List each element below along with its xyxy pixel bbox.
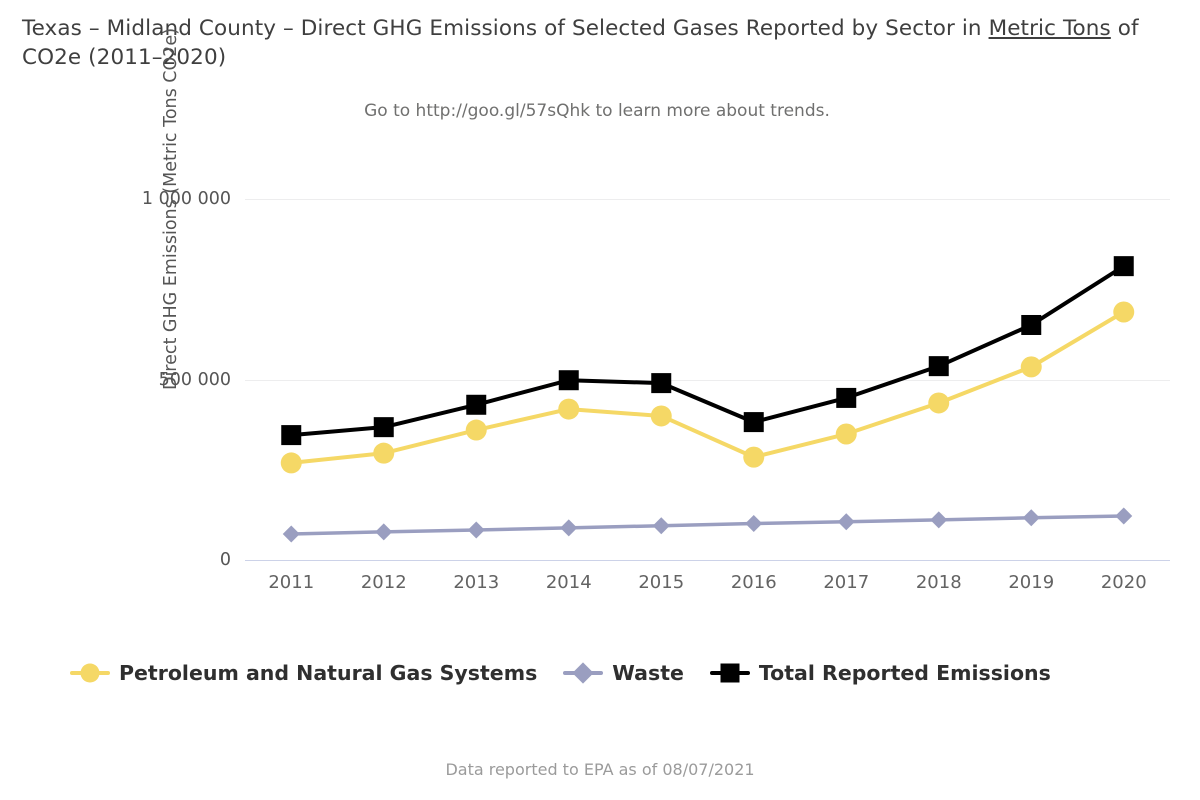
- legend-square-icon: [720, 664, 739, 683]
- series-line: [291, 516, 1124, 534]
- data-point-marker[interactable]: [375, 523, 392, 540]
- data-point-marker[interactable]: [1023, 509, 1040, 526]
- footer-note: Data reported to EPA as of 08/07/2021: [0, 760, 1200, 779]
- data-point-marker[interactable]: [374, 417, 394, 437]
- data-point-marker[interactable]: [1021, 356, 1042, 377]
- data-point-marker[interactable]: [468, 522, 485, 539]
- data-point-marker[interactable]: [466, 420, 487, 441]
- legend-item-total-reported-emissions[interactable]: Total Reported Emissions: [710, 662, 1051, 684]
- data-point-marker[interactable]: [281, 425, 301, 445]
- series-line: [291, 266, 1124, 435]
- legend-label: Waste: [612, 662, 684, 684]
- data-point-marker[interactable]: [1113, 301, 1134, 322]
- data-point-marker[interactable]: [281, 452, 302, 473]
- data-point-marker[interactable]: [651, 405, 672, 426]
- legend-circle-icon: [81, 664, 100, 683]
- data-point-marker[interactable]: [651, 373, 671, 393]
- data-point-marker[interactable]: [744, 412, 764, 432]
- circle-marker-icon: [70, 662, 110, 684]
- data-point-marker[interactable]: [838, 513, 855, 530]
- square-marker-icon: [710, 662, 750, 684]
- legend-label: Petroleum and Natural Gas Systems: [119, 662, 537, 684]
- data-point-marker[interactable]: [558, 399, 579, 420]
- legend-item-petroleum-and-natural-gas-systems[interactable]: Petroleum and Natural Gas Systems: [70, 662, 537, 684]
- legend-item-waste[interactable]: Waste: [563, 662, 684, 684]
- data-point-marker[interactable]: [929, 356, 949, 376]
- data-point-marker[interactable]: [283, 526, 300, 543]
- data-point-marker[interactable]: [928, 392, 949, 413]
- data-point-marker[interactable]: [560, 519, 577, 536]
- data-point-marker[interactable]: [466, 395, 486, 415]
- series-line: [291, 312, 1124, 463]
- series-total-reported-emissions: [281, 256, 1134, 445]
- data-point-marker[interactable]: [1021, 315, 1041, 335]
- legend-diamond-icon: [573, 662, 594, 683]
- data-point-marker[interactable]: [653, 517, 670, 534]
- data-point-marker[interactable]: [1115, 507, 1132, 524]
- chart-legend: Petroleum and Natural Gas SystemsWasteTo…: [70, 662, 1051, 684]
- data-point-marker[interactable]: [559, 370, 579, 390]
- data-point-marker[interactable]: [373, 443, 394, 464]
- diamond-marker-icon: [563, 662, 603, 684]
- series-petroleum-and-natural-gas-systems: [281, 301, 1135, 473]
- legend-label: Total Reported Emissions: [759, 662, 1051, 684]
- data-point-marker[interactable]: [745, 515, 762, 532]
- series-waste: [283, 507, 1133, 542]
- data-point-marker[interactable]: [836, 424, 857, 445]
- data-point-marker[interactable]: [1114, 256, 1134, 276]
- data-point-marker[interactable]: [930, 511, 947, 528]
- data-point-marker[interactable]: [743, 447, 764, 468]
- data-point-marker[interactable]: [836, 388, 856, 408]
